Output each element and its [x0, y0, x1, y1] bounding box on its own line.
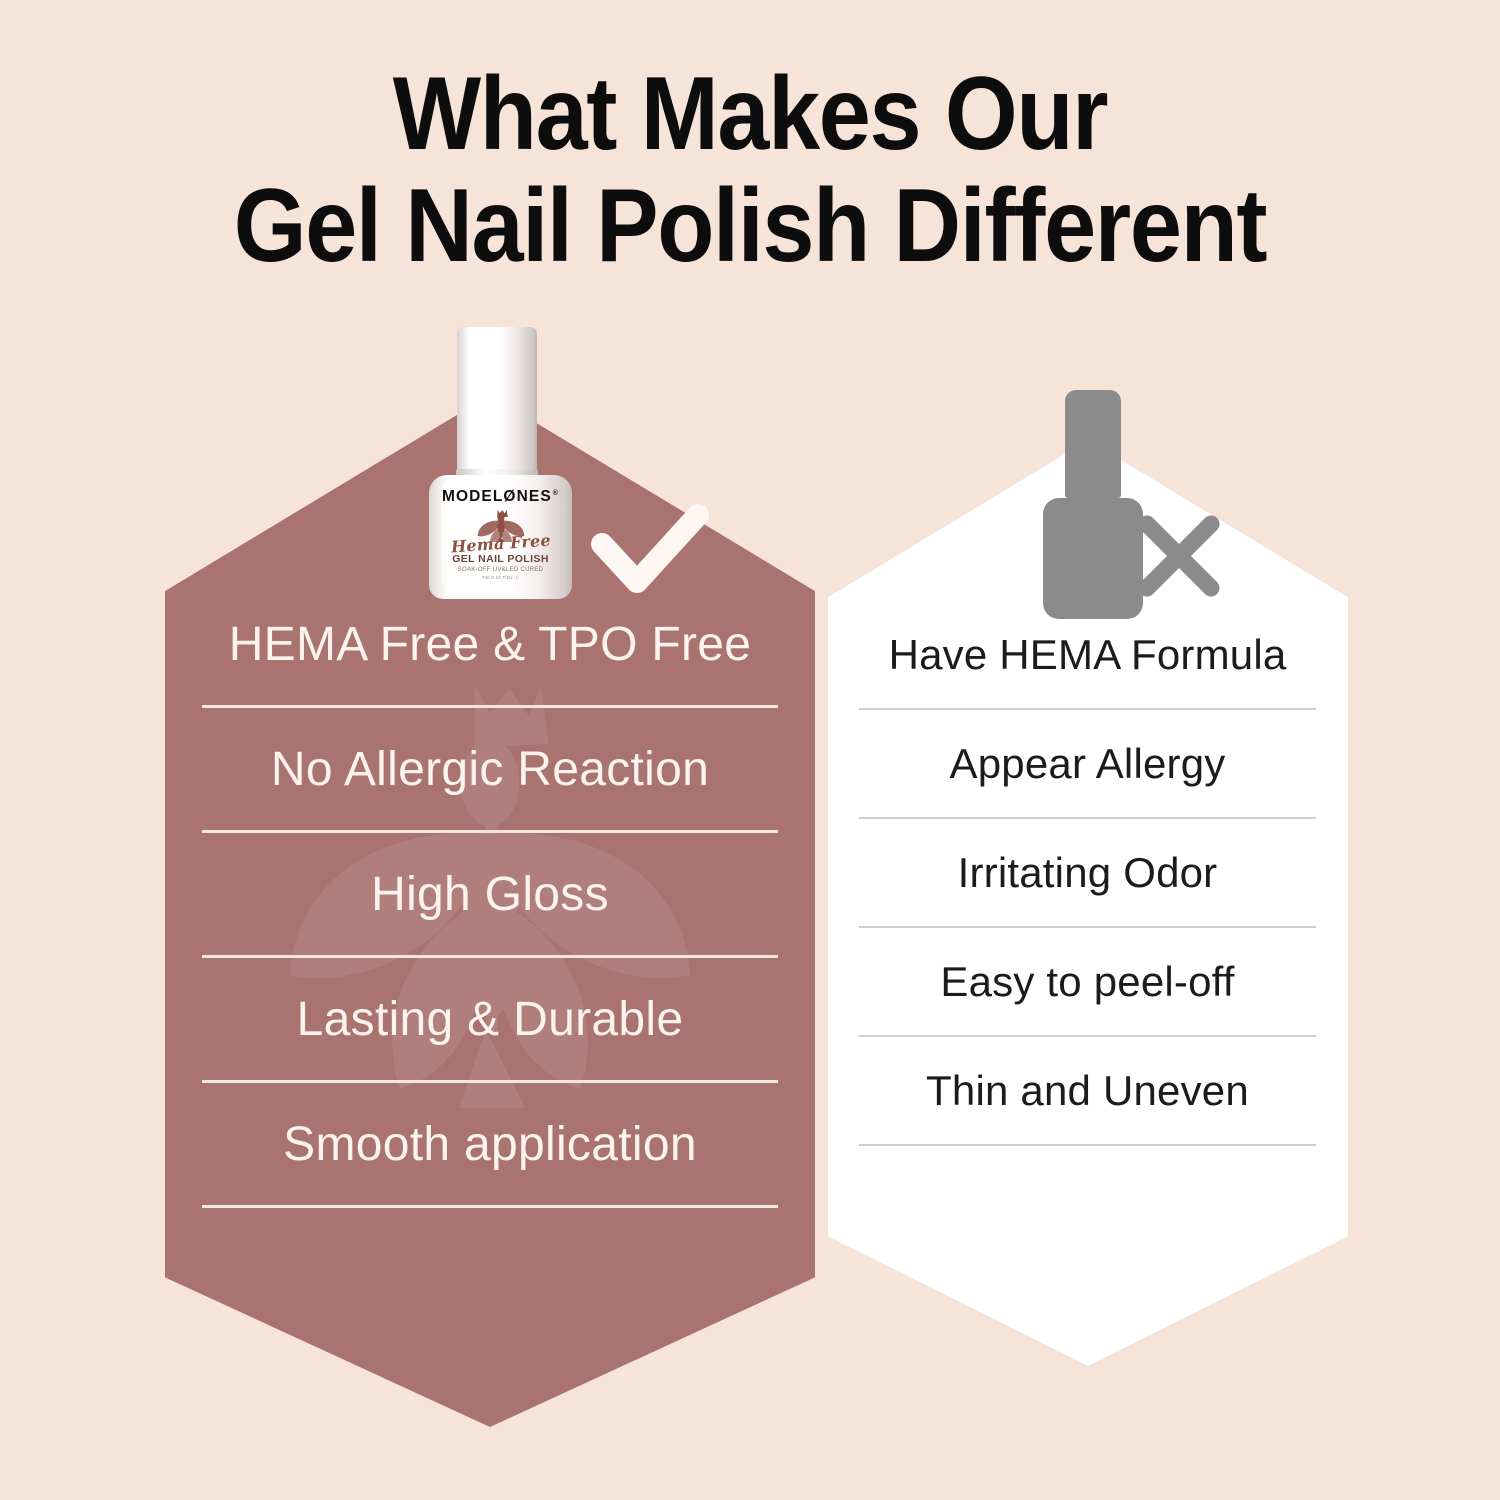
drawback-item: Appear Allergy: [855, 724, 1320, 803]
registered-trademark-icon: ®: [553, 490, 559, 497]
modelones-bottle-image: MODELØNES ® Hema Free GEL NAIL POLISH: [429, 327, 572, 599]
volume-text: 7ml 0.24 FlOz ⓔ: [482, 575, 519, 581]
title-line-1: What Makes Our: [75, 58, 1425, 170]
list-divider: [202, 1205, 778, 1208]
drawback-item: Easy to peel-off: [855, 942, 1320, 1021]
bottle-label: MODELØNES ® Hema Free GEL NAIL POLISH: [429, 479, 572, 597]
title-line-2: Gel Nail Polish Different: [75, 170, 1425, 282]
list-divider: [202, 1080, 778, 1083]
cure-instruction-text: SOAK-OFF UV&LED CURED: [458, 567, 544, 573]
benefit-item: No Allergic Reaction: [190, 725, 790, 813]
brand-name: MODELØNES ®: [442, 489, 559, 505]
benefit-item: Lasting & Durable: [190, 975, 790, 1063]
list-divider: [859, 708, 1316, 710]
competitor-bottle-silhouette: [1043, 390, 1143, 619]
list-divider: [859, 817, 1316, 819]
drawback-item: Have HEMA Formula: [855, 615, 1320, 694]
x-icon: [1131, 508, 1227, 604]
drawback-item: Irritating Odor: [855, 833, 1320, 912]
gray-bottle-body: [1043, 498, 1143, 619]
benefit-item: Smooth application: [190, 1100, 790, 1188]
list-divider: [859, 1035, 1316, 1037]
benefit-item: HEMA Free & TPO Free: [190, 600, 790, 688]
page-title: What Makes Our Gel Nail Polish Different: [75, 58, 1425, 282]
benefit-item: High Gloss: [190, 850, 790, 938]
bottle-cap: [457, 327, 537, 472]
check-icon: [590, 497, 710, 605]
infographic-canvas: What Makes Our Gel Nail Polish Different: [0, 0, 1500, 1500]
list-divider: [202, 830, 778, 833]
list-divider: [859, 1144, 1316, 1146]
brand-text: MODELØNES: [442, 489, 552, 505]
list-divider: [202, 705, 778, 708]
list-divider: [202, 955, 778, 958]
drawbacks-list: Have HEMA FormulaAppear AllergyIrritatin…: [855, 615, 1320, 1160]
benefits-list: HEMA Free & TPO FreeNo Allergic Reaction…: [190, 600, 790, 1225]
drawback-item: Thin and Uneven: [855, 1051, 1320, 1130]
list-divider: [859, 926, 1316, 928]
